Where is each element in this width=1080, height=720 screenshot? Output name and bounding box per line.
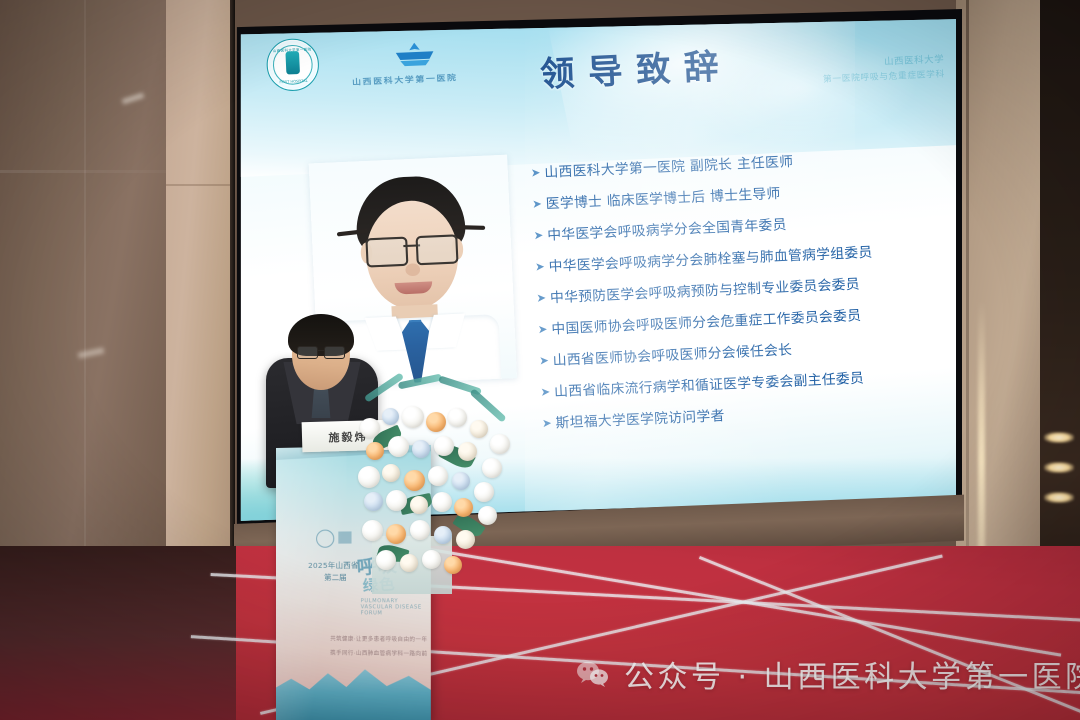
flower-bloom <box>404 470 425 491</box>
bullet-marker-icon: ➤ <box>536 291 550 306</box>
flower-bloom <box>410 520 430 540</box>
floor-shadow-area <box>0 546 236 720</box>
flower-bloom <box>470 420 488 438</box>
list-item-text: 医学博士 临床医学博士后 博士生导师 <box>546 186 781 214</box>
list-item-text: 中华医学会呼吸病学分会肺栓塞与肺血管病学组委员 <box>548 245 873 277</box>
list-item: ➤ 中华医学会呼吸病学分会肺栓塞与肺血管病学组委员 <box>535 242 949 278</box>
watermark-text: 公众号 · 山西医科大学第一医院 <box>624 652 1080 696</box>
flower-bloom <box>360 418 380 438</box>
bullet-marker-icon: ➤ <box>540 385 554 400</box>
list-item-text: 中国医师协会呼吸医师分会危重症工作委员会委员 <box>551 308 862 339</box>
flower-bloom <box>428 466 448 486</box>
wall-seam <box>0 170 176 173</box>
flower-bloom <box>422 550 441 569</box>
glasses-lens <box>415 234 458 265</box>
portrait-eyebrow <box>454 225 485 230</box>
recess-light <box>1044 492 1074 503</box>
wall-highlight <box>78 347 105 358</box>
wall-highlight <box>122 93 144 105</box>
flower-bloom <box>474 482 494 502</box>
list-item: ➤ 中华预防医学会呼吸病预防与控制专业委员会委员 <box>536 273 950 309</box>
flower-bloom <box>386 524 406 544</box>
bullet-marker-icon: ➤ <box>542 416 556 431</box>
portrait-glasses-icon <box>363 234 460 264</box>
right-wall-seam <box>966 0 969 628</box>
bullet-marker-icon: ➤ <box>539 354 553 369</box>
bullet-marker-icon: ➤ <box>538 322 552 337</box>
flower-bloom <box>456 530 475 549</box>
list-item-text: 中华医学会呼吸病学分会全国青年委员 <box>547 218 787 246</box>
flower-bloom <box>412 440 430 458</box>
flower-bloom <box>448 408 467 427</box>
flower-bloom <box>402 406 424 428</box>
list-item-text: 中华预防医学会呼吸病预防与控制专业委员会委员 <box>550 277 861 308</box>
flower-bloom <box>386 490 407 511</box>
bullet-marker-icon: ➤ <box>533 228 547 243</box>
flower-bloom <box>482 458 502 478</box>
flower-bloom <box>400 554 418 572</box>
flower-bloom <box>376 550 396 570</box>
podium-event-subtitle: PULMONARY VASCULAR DISEASE FORUM <box>361 598 431 617</box>
flower-bloom <box>426 412 446 432</box>
right-recess <box>1040 0 1080 630</box>
flower-bloom <box>454 498 473 517</box>
flower-bloom <box>434 436 454 456</box>
flower-bloom <box>444 556 462 574</box>
credentials-list: ➤ 山西医科大学第一医院 副院长 主任医师 ➤ 医学博士 临床医学博士后 博士生… <box>531 148 956 448</box>
left-pillar <box>166 0 234 616</box>
list-item-text: 山西省医师协会呼吸医师分会候任会长 <box>553 343 793 371</box>
glasses-lens <box>297 346 318 359</box>
recess-light <box>1044 432 1074 443</box>
flower-bloom <box>434 526 452 544</box>
flower-bloom <box>382 408 399 425</box>
list-item: ➤ 中国医师协会呼吸医师分会危重症工作委员会委员 <box>538 304 952 340</box>
stage-photo-scene: 山西医科大学第一医院 FIRST HOSPITAL 山西医科大学第一医院 山西医… <box>0 0 1080 720</box>
flower-bloom <box>452 472 470 490</box>
list-item: ➤ 山西省医师协会呼吸医师分会候任会长 <box>539 336 953 372</box>
left-wall-panel <box>0 0 176 620</box>
flower-bloom <box>458 442 477 461</box>
list-item: ➤ 医学博士 临床医学博士后 博士生导师 <box>532 179 946 215</box>
watermark: 公众号 · 山西医科大学第一医院 <box>576 652 1080 696</box>
flower-bloom <box>382 464 400 482</box>
list-item-text: 山西省临床流行病学和循证医学专委会副主任委员 <box>554 371 865 402</box>
recess-light <box>1044 462 1074 473</box>
flower-bloom <box>490 434 510 454</box>
flower-bloom <box>364 492 383 511</box>
glasses-lens <box>324 346 345 359</box>
foliage-frond <box>469 388 506 423</box>
speaker-glasses-icon <box>297 346 345 358</box>
glasses-lens <box>365 237 408 268</box>
bullet-marker-icon: ➤ <box>531 166 545 181</box>
flower-bloom <box>410 496 428 514</box>
list-item-text: 斯坦福大学医学院访问学者 <box>555 409 725 434</box>
bullet-marker-icon: ➤ <box>535 260 549 275</box>
list-item: ➤ 斯坦福大学医学院访问学者 <box>542 398 956 434</box>
flower-bloom <box>478 506 497 525</box>
list-item: ➤ 中华医学会呼吸病学分会全国青年委员 <box>533 210 947 246</box>
list-item: ➤ 山西省临床流行病学和循证医学专委会副主任委员 <box>540 367 954 403</box>
flower-bloom <box>432 492 452 512</box>
flower-bloom <box>366 442 384 460</box>
flower-arrangement <box>354 378 522 590</box>
podium-sheen <box>276 447 346 720</box>
flower-bloom <box>388 436 409 457</box>
bullet-marker-icon: ➤ <box>532 197 546 212</box>
flower-bloom <box>362 520 383 541</box>
wechat-icon <box>576 660 610 688</box>
flower-bloom <box>358 466 380 488</box>
